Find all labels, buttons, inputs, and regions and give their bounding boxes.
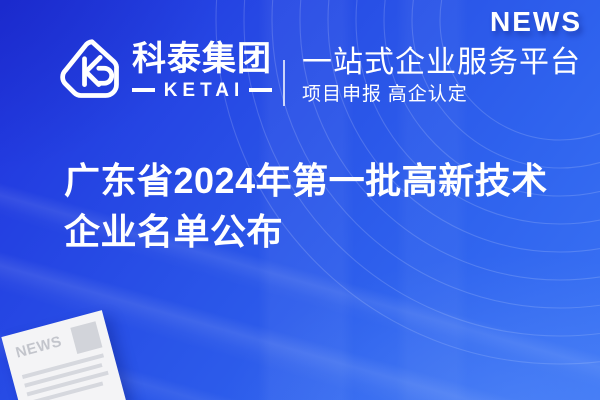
brand-name-en-row: KETAI xyxy=(132,81,272,100)
wordmark-dash-right xyxy=(249,88,272,92)
tagline-block: 一站式企业服务平台 项目申报 高企认定 xyxy=(302,46,581,106)
newspaper-card-title: NEWS xyxy=(14,334,63,361)
brand-wordmark: 科泰集团 KETAI xyxy=(132,42,272,100)
wordmark-dash-left xyxy=(132,88,155,92)
news-banner: NEWS 科泰集团 KETAI 一站式企业服务平台 xyxy=(0,0,600,400)
brand-name-en: KETAI xyxy=(155,81,250,100)
ketai-kp-diamond-icon xyxy=(58,36,126,106)
brand-logo: 科泰集团 KETAI xyxy=(58,36,272,106)
tagline-main: 一站式企业服务平台 xyxy=(302,46,581,80)
newspaper-card-image-placeholder xyxy=(70,321,102,354)
header-divider xyxy=(283,60,285,106)
newspaper-card-illustration: NEWS xyxy=(1,310,126,400)
news-badge: NEWS xyxy=(490,8,582,36)
brand-name-cn: 科泰集团 xyxy=(132,42,272,78)
page-title: 广东省2024年第一批高新技术企业名单公布 xyxy=(64,155,564,257)
tagline-sub: 项目申报 高企认定 xyxy=(302,84,581,107)
